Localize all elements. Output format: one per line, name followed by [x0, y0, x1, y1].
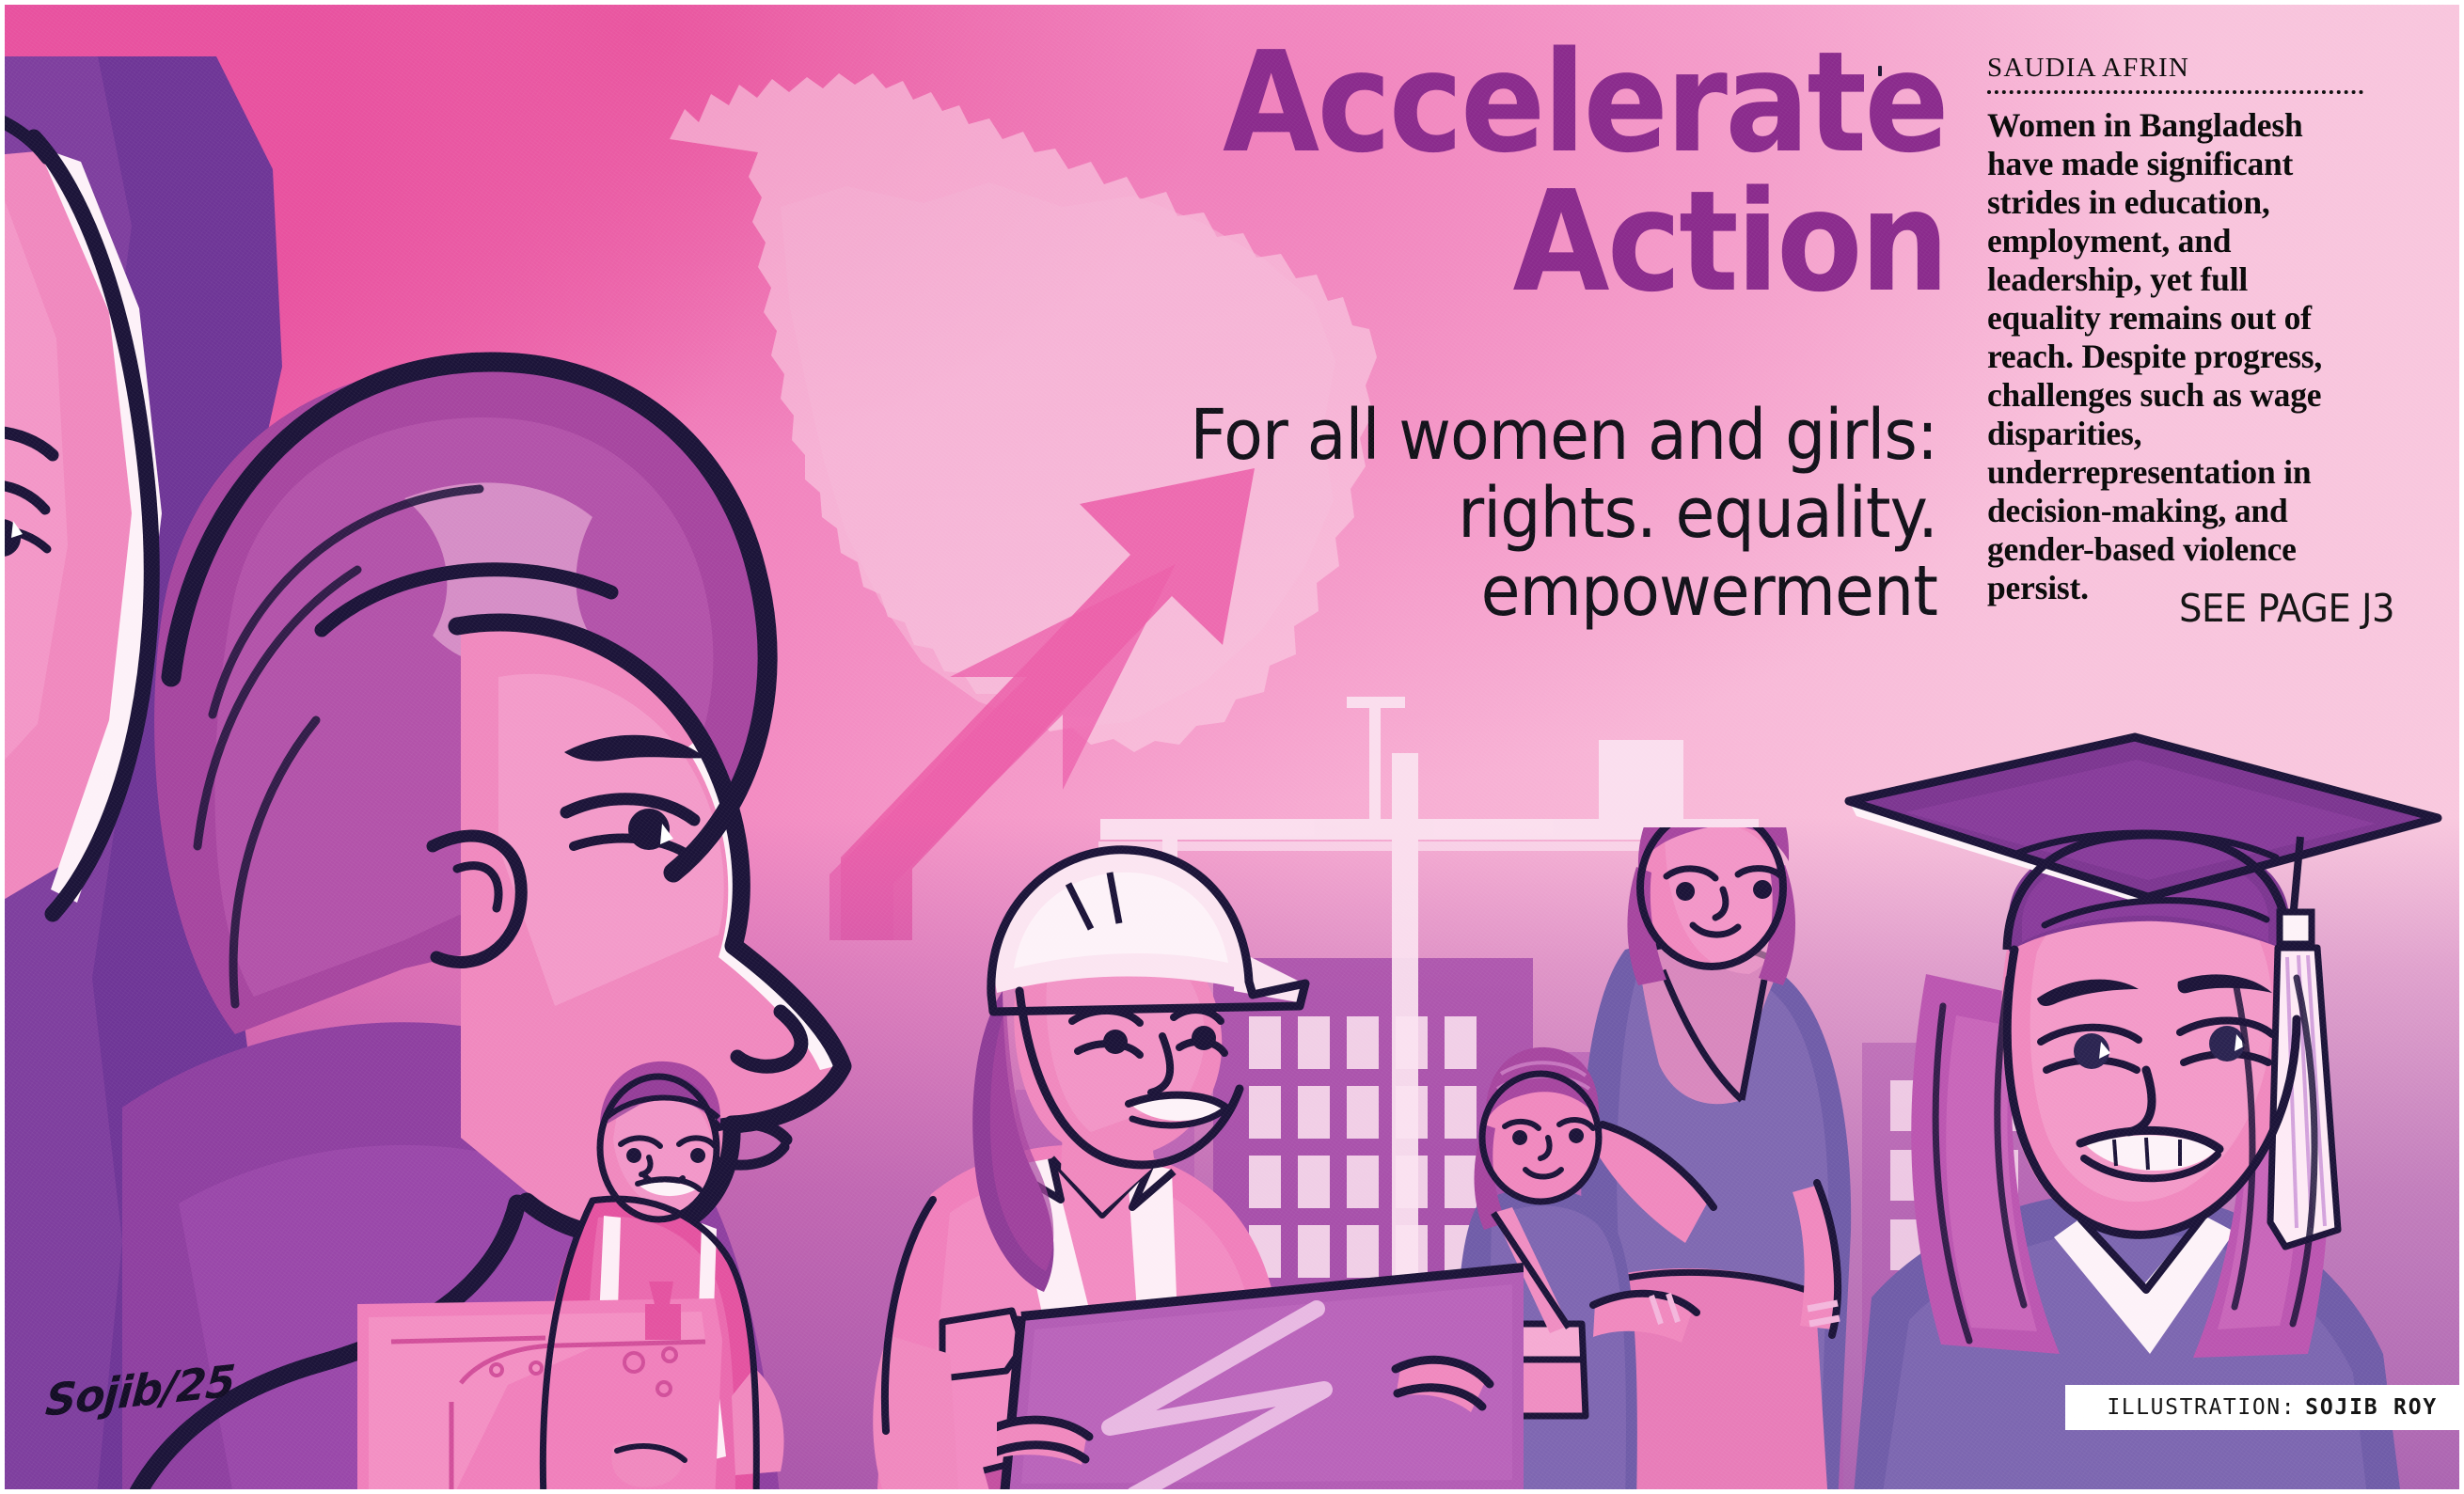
- newspaper-feature-page: Sojib/25 Accelerate Action For all women…: [0, 0, 2464, 1494]
- headline-line-2: Action: [1024, 175, 1947, 308]
- protest-banner-placard: [997, 1250, 1524, 1494]
- illustration-credit-badge: ILLUSTRATION: SOJIB ROY: [2067, 1385, 2464, 1430]
- see-page-reference[interactable]: SEE PAGE J3: [2179, 586, 2394, 631]
- byline: SAUDIA AFRIN: [1987, 55, 2363, 82]
- credit-artist-name: SOJIB ROY: [2305, 1395, 2438, 1420]
- sidebar: SAUDIA AFRIN Women in Bangladesh have ma…: [1987, 55, 2363, 607]
- figure-graduate: [1815, 696, 2464, 1494]
- page-subtitle: For all women and girls: rights. equalit…: [1003, 397, 1937, 631]
- dotted-rule: [1987, 90, 2363, 94]
- headline-line-1: Accelerate: [1024, 36, 1947, 169]
- figure-garment-worker: [310, 1058, 837, 1494]
- credit-label: ILLUSTRATION:: [2107, 1395, 2296, 1420]
- standfirst-text: Women in Bangladesh have made significan…: [1987, 106, 2363, 607]
- page-title: Accelerate Action: [922, 36, 1947, 308]
